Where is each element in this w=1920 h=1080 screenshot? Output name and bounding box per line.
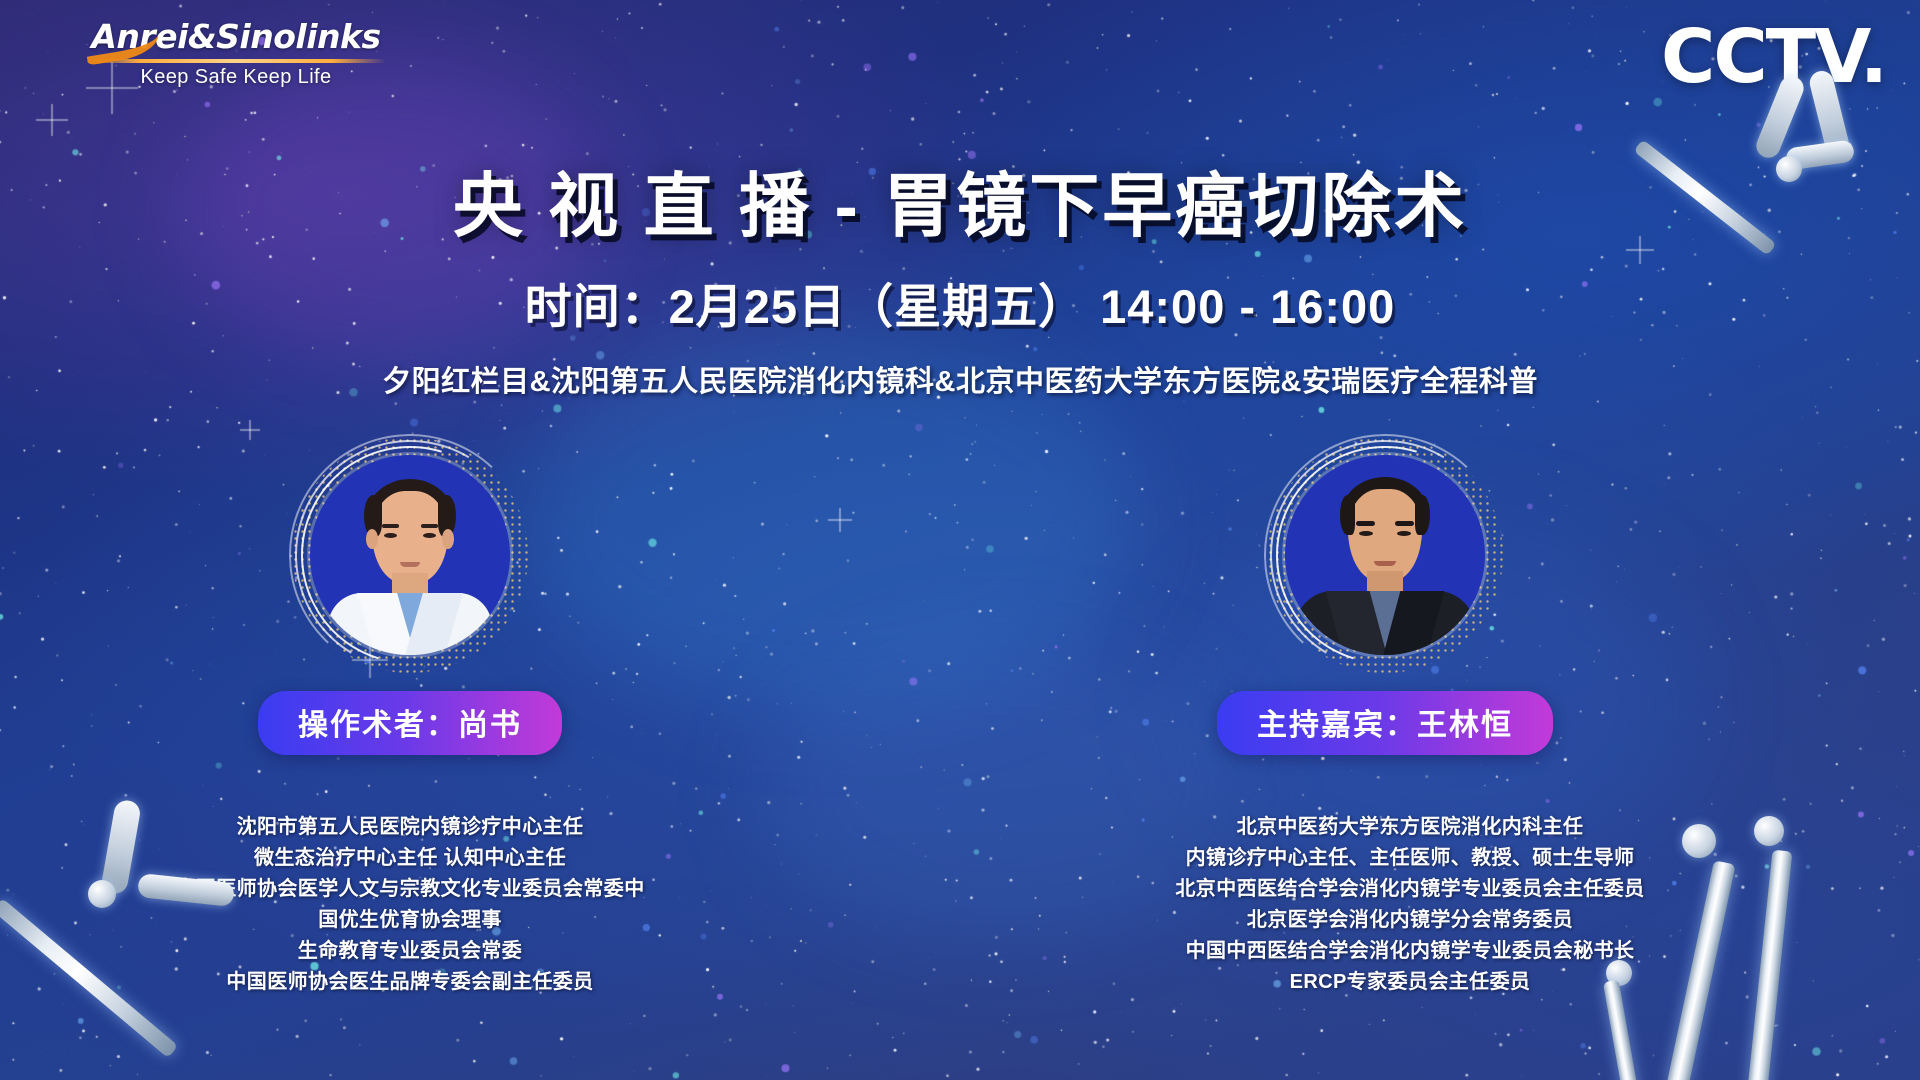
portrait-hair-side-right xyxy=(1415,495,1430,535)
avatar-frame xyxy=(1285,455,1485,655)
portrait-face xyxy=(372,491,448,583)
person-card-operator: 操作术者：尚书 xyxy=(130,455,690,755)
credential-line: 沈阳市第五人民医院内镜诊疗中心主任 xyxy=(60,812,760,843)
portrait-hair-side-left xyxy=(1340,495,1355,535)
live-broadcast-poster: Anrei&Sinolinks Keep Safe Keep Life CCTV… xyxy=(0,0,1920,1080)
portrait-face xyxy=(1348,489,1422,581)
portrait-eye-left xyxy=(1359,531,1373,536)
credential-line: 中国医师协会医学人文与宗教文化专业委员会常委中 xyxy=(60,874,760,905)
brand-tagline: Keep Safe Keep Life xyxy=(76,66,396,89)
credential-line: 微生态治疗中心主任 认知中心主任 xyxy=(60,843,760,874)
portrait-ear-right xyxy=(442,529,454,549)
cctv-logo: CCTV. xyxy=(1661,14,1886,100)
avatar xyxy=(310,455,510,655)
credential-line: 北京中西医结合学会消化内镜学专业委员会主任委员 xyxy=(1060,874,1760,905)
event-time: 时间：2月25日（星期五） 14:00 - 16:00 xyxy=(0,268,1920,337)
credential-line: 内镜诊疗中心主任、主任医师、教授、硕士生导师 xyxy=(1060,843,1760,874)
credential-line: 北京中医药大学东方医院消化内科主任 xyxy=(1060,812,1760,843)
credential-line: ERCP专家委员会主任委员 xyxy=(1060,967,1760,998)
portrait-mouth xyxy=(1374,561,1396,566)
portrait-ear-left xyxy=(366,529,378,549)
brand-logo: Anrei&Sinolinks Keep Safe Keep Life xyxy=(76,20,396,89)
portrait-brow-right xyxy=(1395,521,1414,526)
portrait-eye-left xyxy=(384,533,397,538)
portrait-mouth xyxy=(400,562,420,567)
credential-line: 中国医师协会医生品牌专委会副主任委员 xyxy=(60,967,760,998)
person-card-host: 主持嘉宾：王林恒 xyxy=(1105,455,1665,755)
credential-line: 中国中西医结合学会消化内镜学专业委员会秘书长 xyxy=(1060,936,1760,967)
role-badge-host: 主持嘉宾：王林恒 xyxy=(1217,691,1553,755)
credentials-host: 北京中医药大学东方医院消化内科主任 内镜诊疗中心主任、主任医师、教授、硕士生导师… xyxy=(1060,812,1760,998)
credential-line: 北京医学会消化内镜学分会常务委员 xyxy=(1060,905,1760,936)
cctv-wordmark: CCTV xyxy=(1661,14,1860,100)
brand-divider xyxy=(86,59,386,63)
role-badge-operator: 操作术者：尚书 xyxy=(258,691,562,755)
portrait-eye-right xyxy=(423,533,436,538)
cctv-dot-icon: . xyxy=(1860,14,1886,100)
page-title: 央 视 直 播 - 胃镜下早癌切除术 xyxy=(0,150,1920,251)
avatar xyxy=(1285,455,1485,655)
portrait-brow-left xyxy=(1356,521,1375,526)
credential-line: 生命教育专业委员会常委 xyxy=(60,936,760,967)
portrait-brow-right xyxy=(421,524,438,528)
avatar-frame xyxy=(310,455,510,655)
credentials-operator: 沈阳市第五人民医院内镜诊疗中心主任 微生态治疗中心主任 认知中心主任 中国医师协… xyxy=(60,812,760,998)
portrait-brow-left xyxy=(382,524,399,528)
organizations-line: 夕阳红栏目&沈阳第五人民医院消化内镜科&北京中医药大学东方医院&安瑞医疗全程科普 xyxy=(0,358,1920,400)
portrait-eye-right xyxy=(1397,531,1411,536)
credential-line: 国优生优育协会理事 xyxy=(60,905,760,936)
